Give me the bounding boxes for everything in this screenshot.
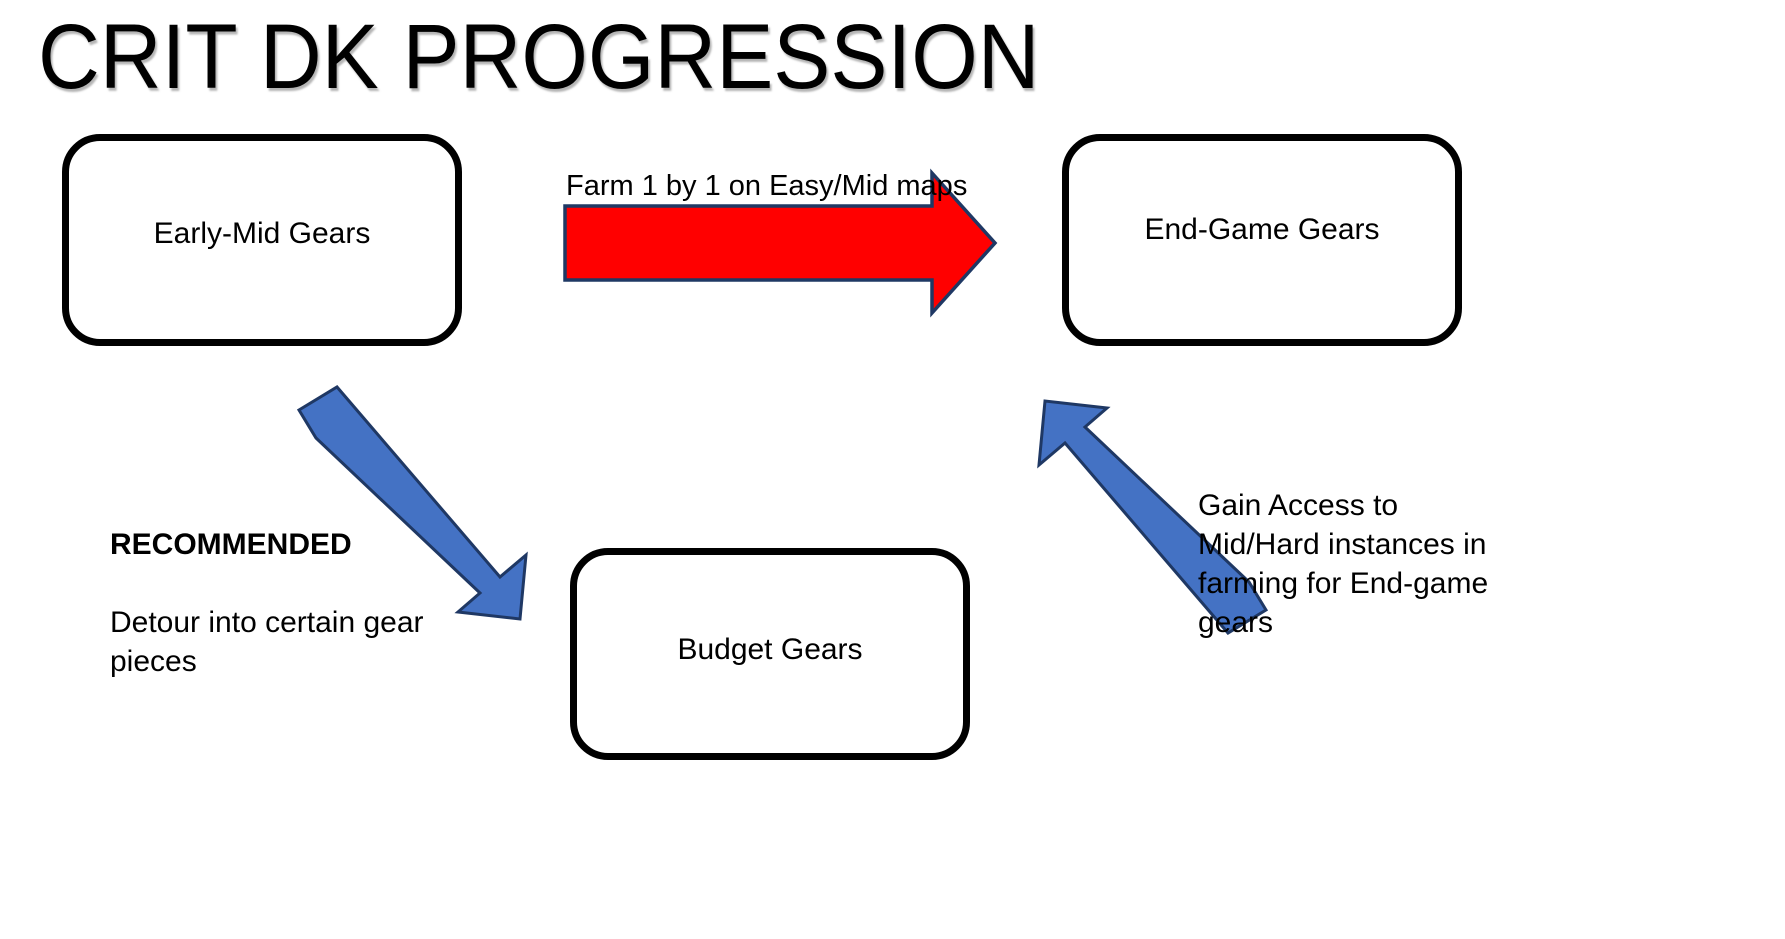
note-left: RECOMMENDED Detour into certain gear pie… <box>110 486 440 720</box>
box-budget-gears-label: Budget Gears <box>677 632 862 668</box>
note-left-heading: RECOMMENDED <box>110 525 440 564</box>
box-end-game-gears[interactable]: End-Game Gears <box>1062 134 1462 346</box>
note-left-body: Detour into certain gear pieces <box>110 603 440 681</box>
box-early-mid-gears-label: Early-Mid Gears <box>154 216 371 252</box>
box-budget-gears[interactable]: Budget Gears <box>570 548 970 760</box>
slide-canvas: CRIT DK PROGRESSION Early-Mid Gears End-… <box>0 0 1785 939</box>
box-early-mid-gears[interactable]: Early-Mid Gears <box>62 134 462 346</box>
page-title: CRIT DK PROGRESSION <box>38 2 1040 112</box>
arrow-right-red-label: Farm 1 by 1 on Easy/Mid maps <box>566 168 936 204</box>
box-end-game-gears-label: End-Game Gears <box>1144 212 1379 248</box>
note-right: Gain Access to Mid/Hard instances in far… <box>1198 486 1498 642</box>
